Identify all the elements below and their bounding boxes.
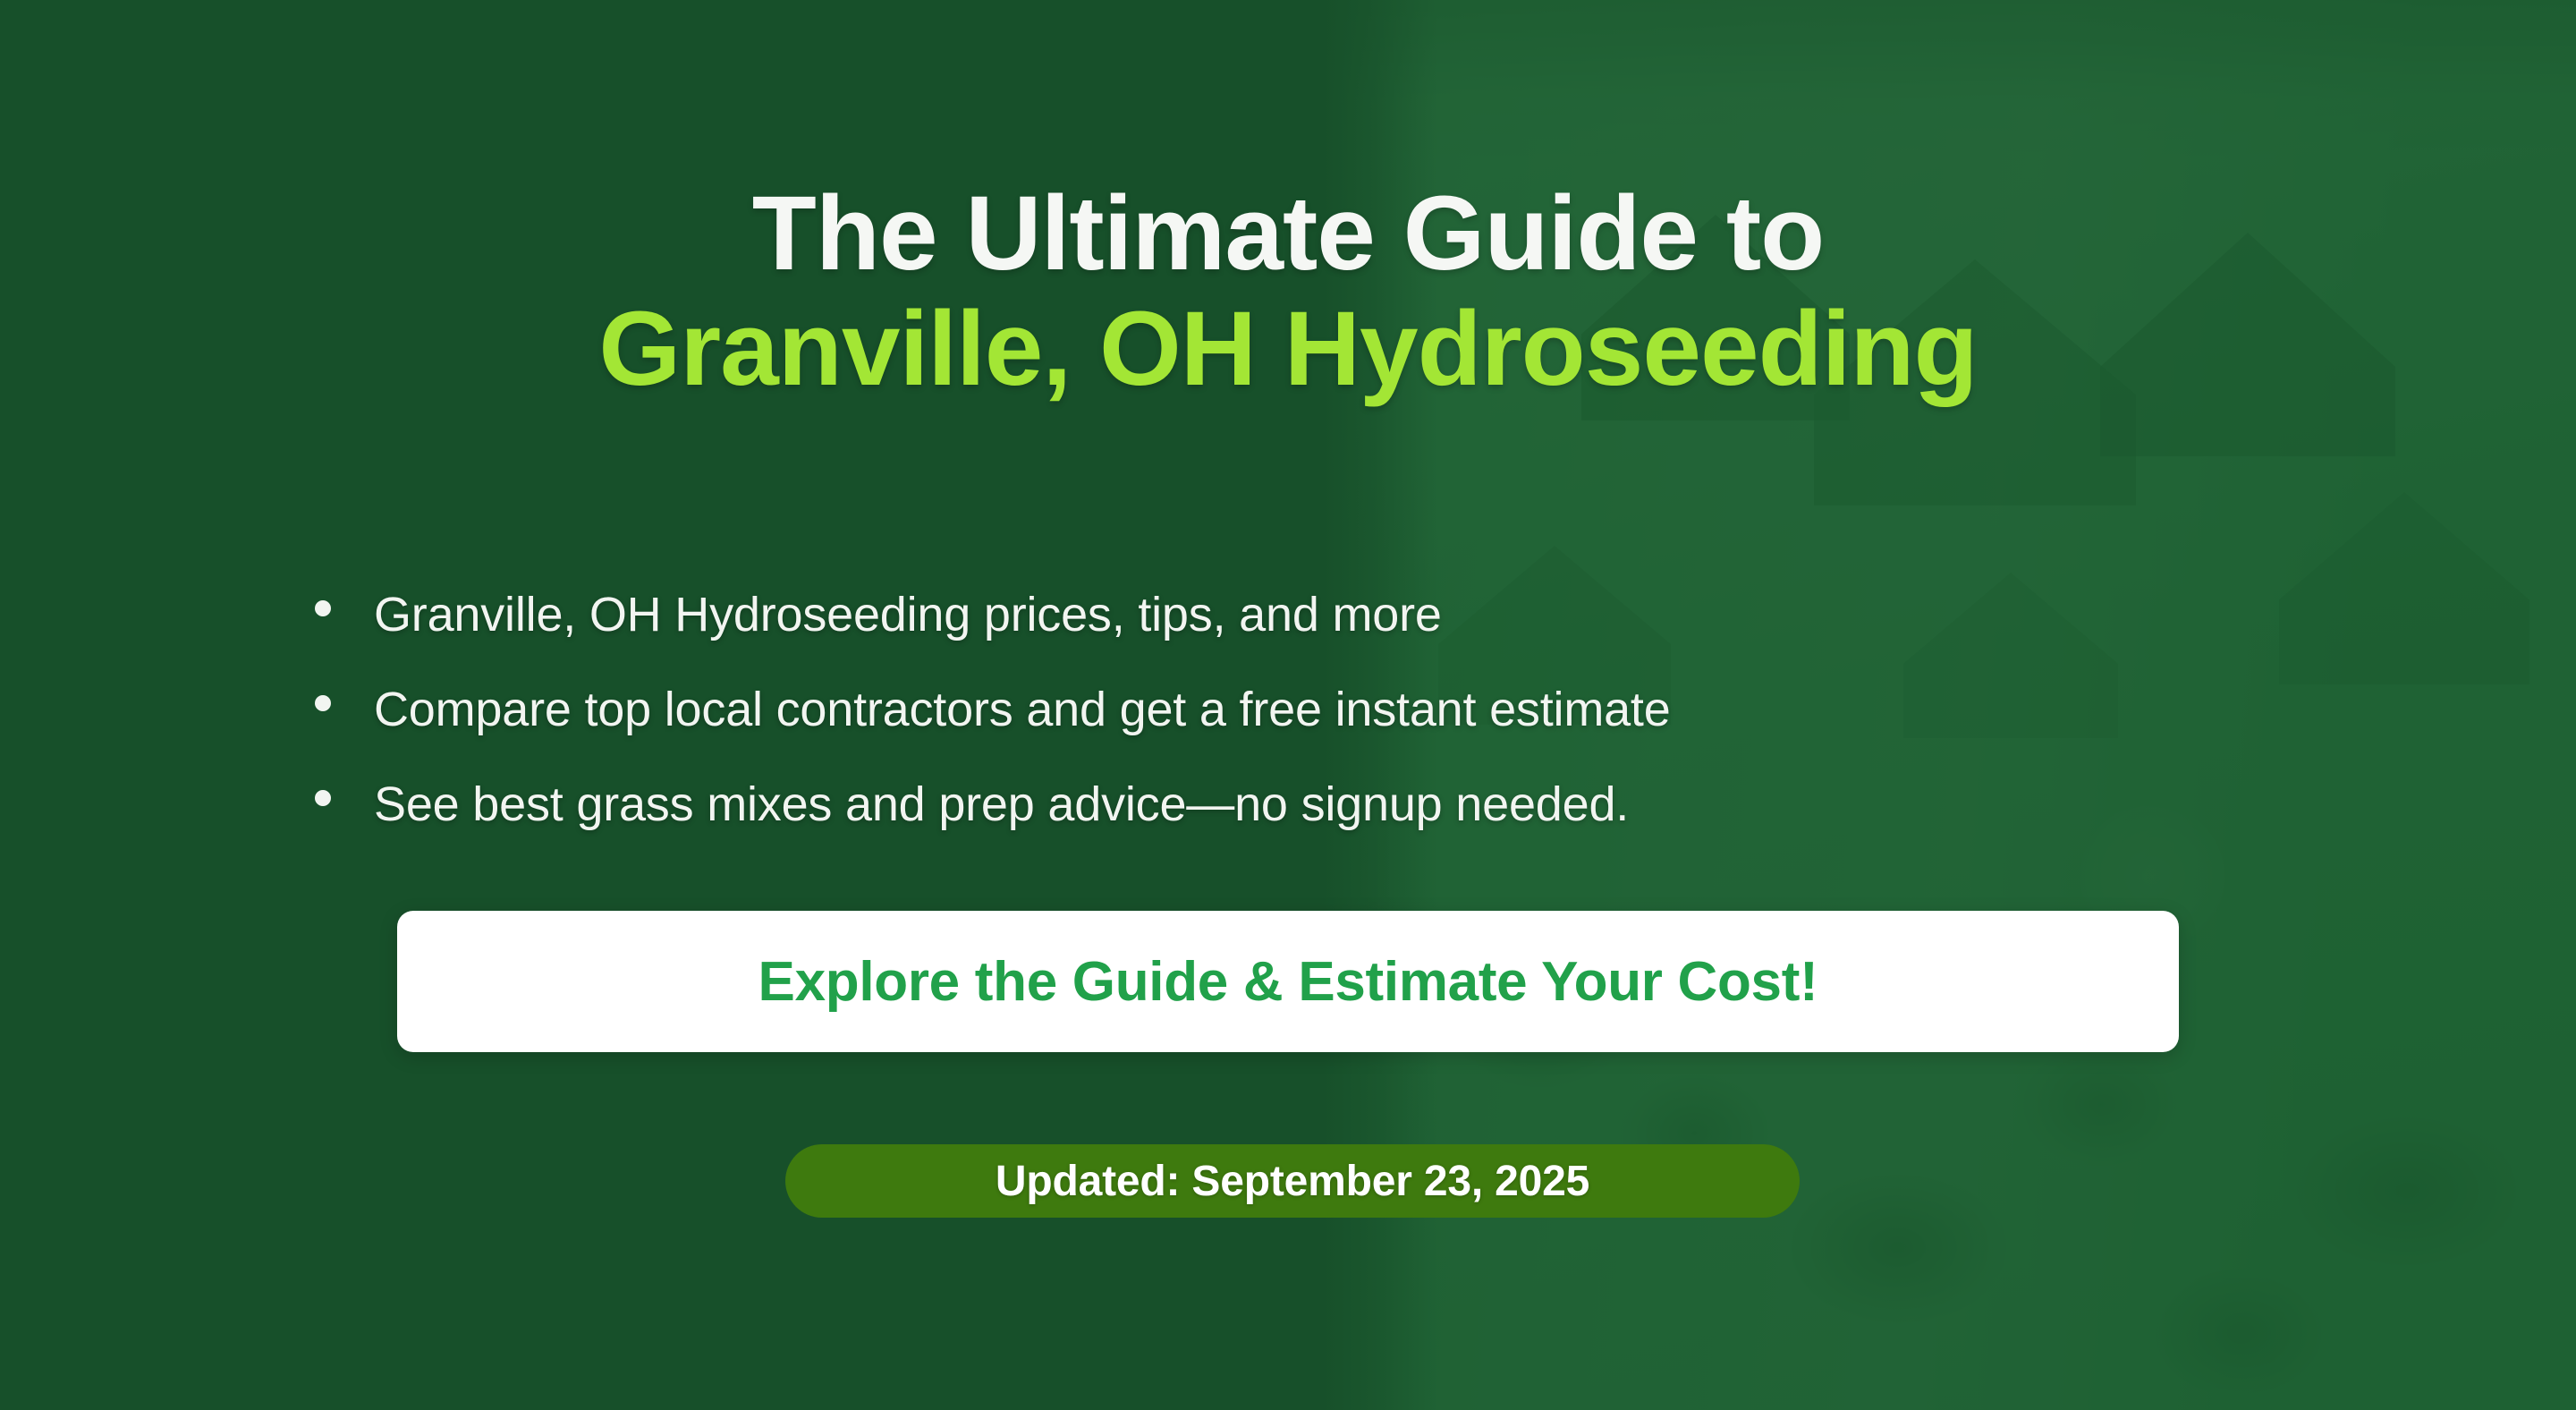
list-item: See best grass mixes and prep advice—no … xyxy=(315,777,1671,871)
updated-date-badge: Updated: September 23, 2025 xyxy=(785,1144,1800,1218)
list-item: Compare top local contractors and get a … xyxy=(315,682,1671,777)
bullet-dot-icon xyxy=(315,695,331,711)
hero-banner: The Ultimate Guide to Granville, OH Hydr… xyxy=(0,0,2576,1410)
headline-line-2: Granville, OH Hydroseeding xyxy=(0,295,2576,403)
explore-guide-cta-button[interactable]: Explore the Guide & Estimate Your Cost! xyxy=(397,911,2179,1052)
banner-content: The Ultimate Guide to Granville, OH Hydr… xyxy=(0,0,2576,1410)
bullet-dot-icon xyxy=(315,790,331,806)
feature-bullet-list: Granville, OH Hydroseeding prices, tips,… xyxy=(315,587,1671,871)
list-item-label: Compare top local contractors and get a … xyxy=(374,682,1671,737)
list-item-label: See best grass mixes and prep advice—no … xyxy=(374,777,1629,832)
list-item-label: Granville, OH Hydroseeding prices, tips,… xyxy=(374,587,1442,642)
list-item: Granville, OH Hydroseeding prices, tips,… xyxy=(315,587,1671,682)
page-title: The Ultimate Guide to Granville, OH Hydr… xyxy=(0,180,2576,403)
bullet-dot-icon xyxy=(315,600,331,616)
headline-line-1: The Ultimate Guide to xyxy=(0,180,2576,287)
